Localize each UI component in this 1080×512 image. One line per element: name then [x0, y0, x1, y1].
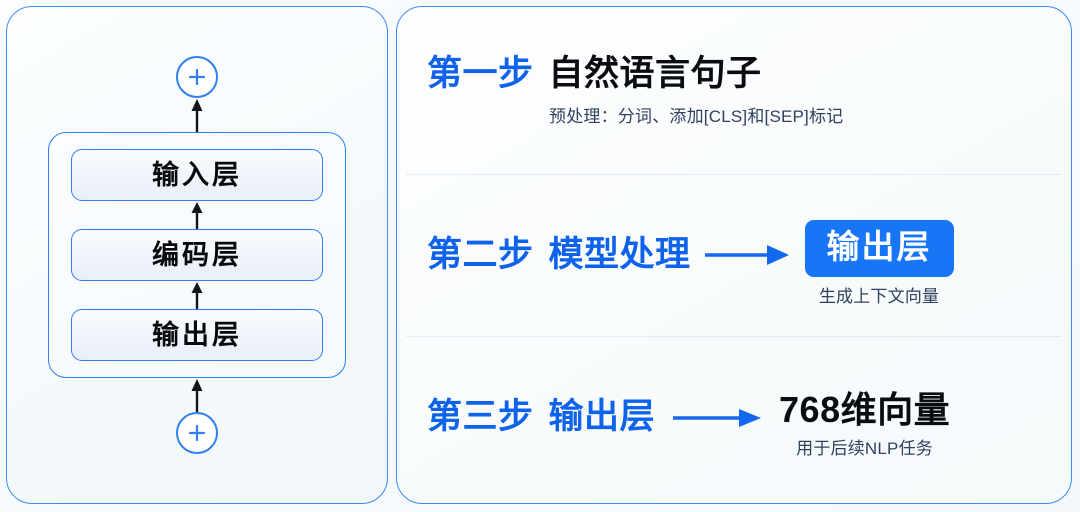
layer-label: 输入层 — [152, 162, 242, 189]
step-3-result-label: 768维向量 — [779, 391, 950, 429]
step-1-note: 预处理：分词、添加[CLS]和[SEP]标记 — [549, 106, 1045, 128]
left-architecture-panel: 输入层 编码层 — [6, 6, 388, 504]
step-3-headline: 第三步 输出层 768维向量 用于后续NLP任务 — [427, 375, 1045, 460]
right-steps-panel: 第一步 自然语言句子 预处理：分词、添加[CLS]和[SEP]标记 第二步 模型… — [396, 6, 1072, 504]
layer-stack: 输入层 编码层 — [7, 7, 387, 503]
right-arrow-icon-step2 — [705, 244, 791, 266]
step-2-result-group: 输出层 生成上下文向量 — [805, 220, 954, 307]
step-3-result-group: 768维向量 用于后续NLP任务 — [779, 391, 950, 460]
step-1-label: 第一步 — [427, 56, 534, 93]
step-row-3: 第三步 输出层 768维向量 用于后续NLP任务 — [397, 336, 1071, 499]
step-2-headline: 第二步 模型处理 输出层 生成上下文向量 — [427, 202, 1045, 307]
layer-box-output[interactable]: 输出层 — [71, 309, 323, 361]
layer-label: 编码层 — [152, 242, 242, 269]
plus-circle-icon-bottom — [176, 412, 218, 454]
plus-circle-icon-top — [176, 56, 218, 98]
encoder-block-frame: 输入层 编码层 — [48, 132, 346, 378]
step-3-title: 输出层 — [549, 399, 656, 436]
arrow-up-encode-to-input — [190, 201, 204, 229]
layer-box-input[interactable]: 输入层 — [71, 149, 323, 201]
layer-box-encoder[interactable]: 编码层 — [71, 229, 323, 281]
arrow-up-from-bottom-node — [190, 378, 204, 412]
step-1-headline: 第一步 自然语言句子 — [427, 56, 1045, 93]
right-arrow-icon-step3 — [669, 407, 765, 429]
step-row-1: 第一步 自然语言句子 预处理：分词、添加[CLS]和[SEP]标记 — [397, 11, 1071, 174]
step-1-title: 自然语言句子 — [549, 56, 762, 93]
step-2-result-box[interactable]: 输出层 — [805, 220, 954, 276]
step-row-2: 第二步 模型处理 输出层 生成上下文向量 — [397, 174, 1071, 337]
step-2-label: 第二步 — [427, 237, 534, 274]
arrow-up-to-top-node — [190, 98, 204, 132]
diagram-canvas: 输入层 编码层 — [0, 0, 1080, 512]
arrow-up-output-to-encode — [190, 281, 204, 309]
step-3-label: 第三步 — [427, 399, 534, 436]
step-2-result-label: 输出层 — [827, 229, 932, 265]
step-3-result-note: 用于后续NLP任务 — [796, 438, 933, 460]
step-2-result-note: 生成上下文向量 — [819, 286, 939, 308]
step-2-title: 模型处理 — [549, 237, 691, 274]
layer-label: 输出层 — [152, 322, 242, 349]
